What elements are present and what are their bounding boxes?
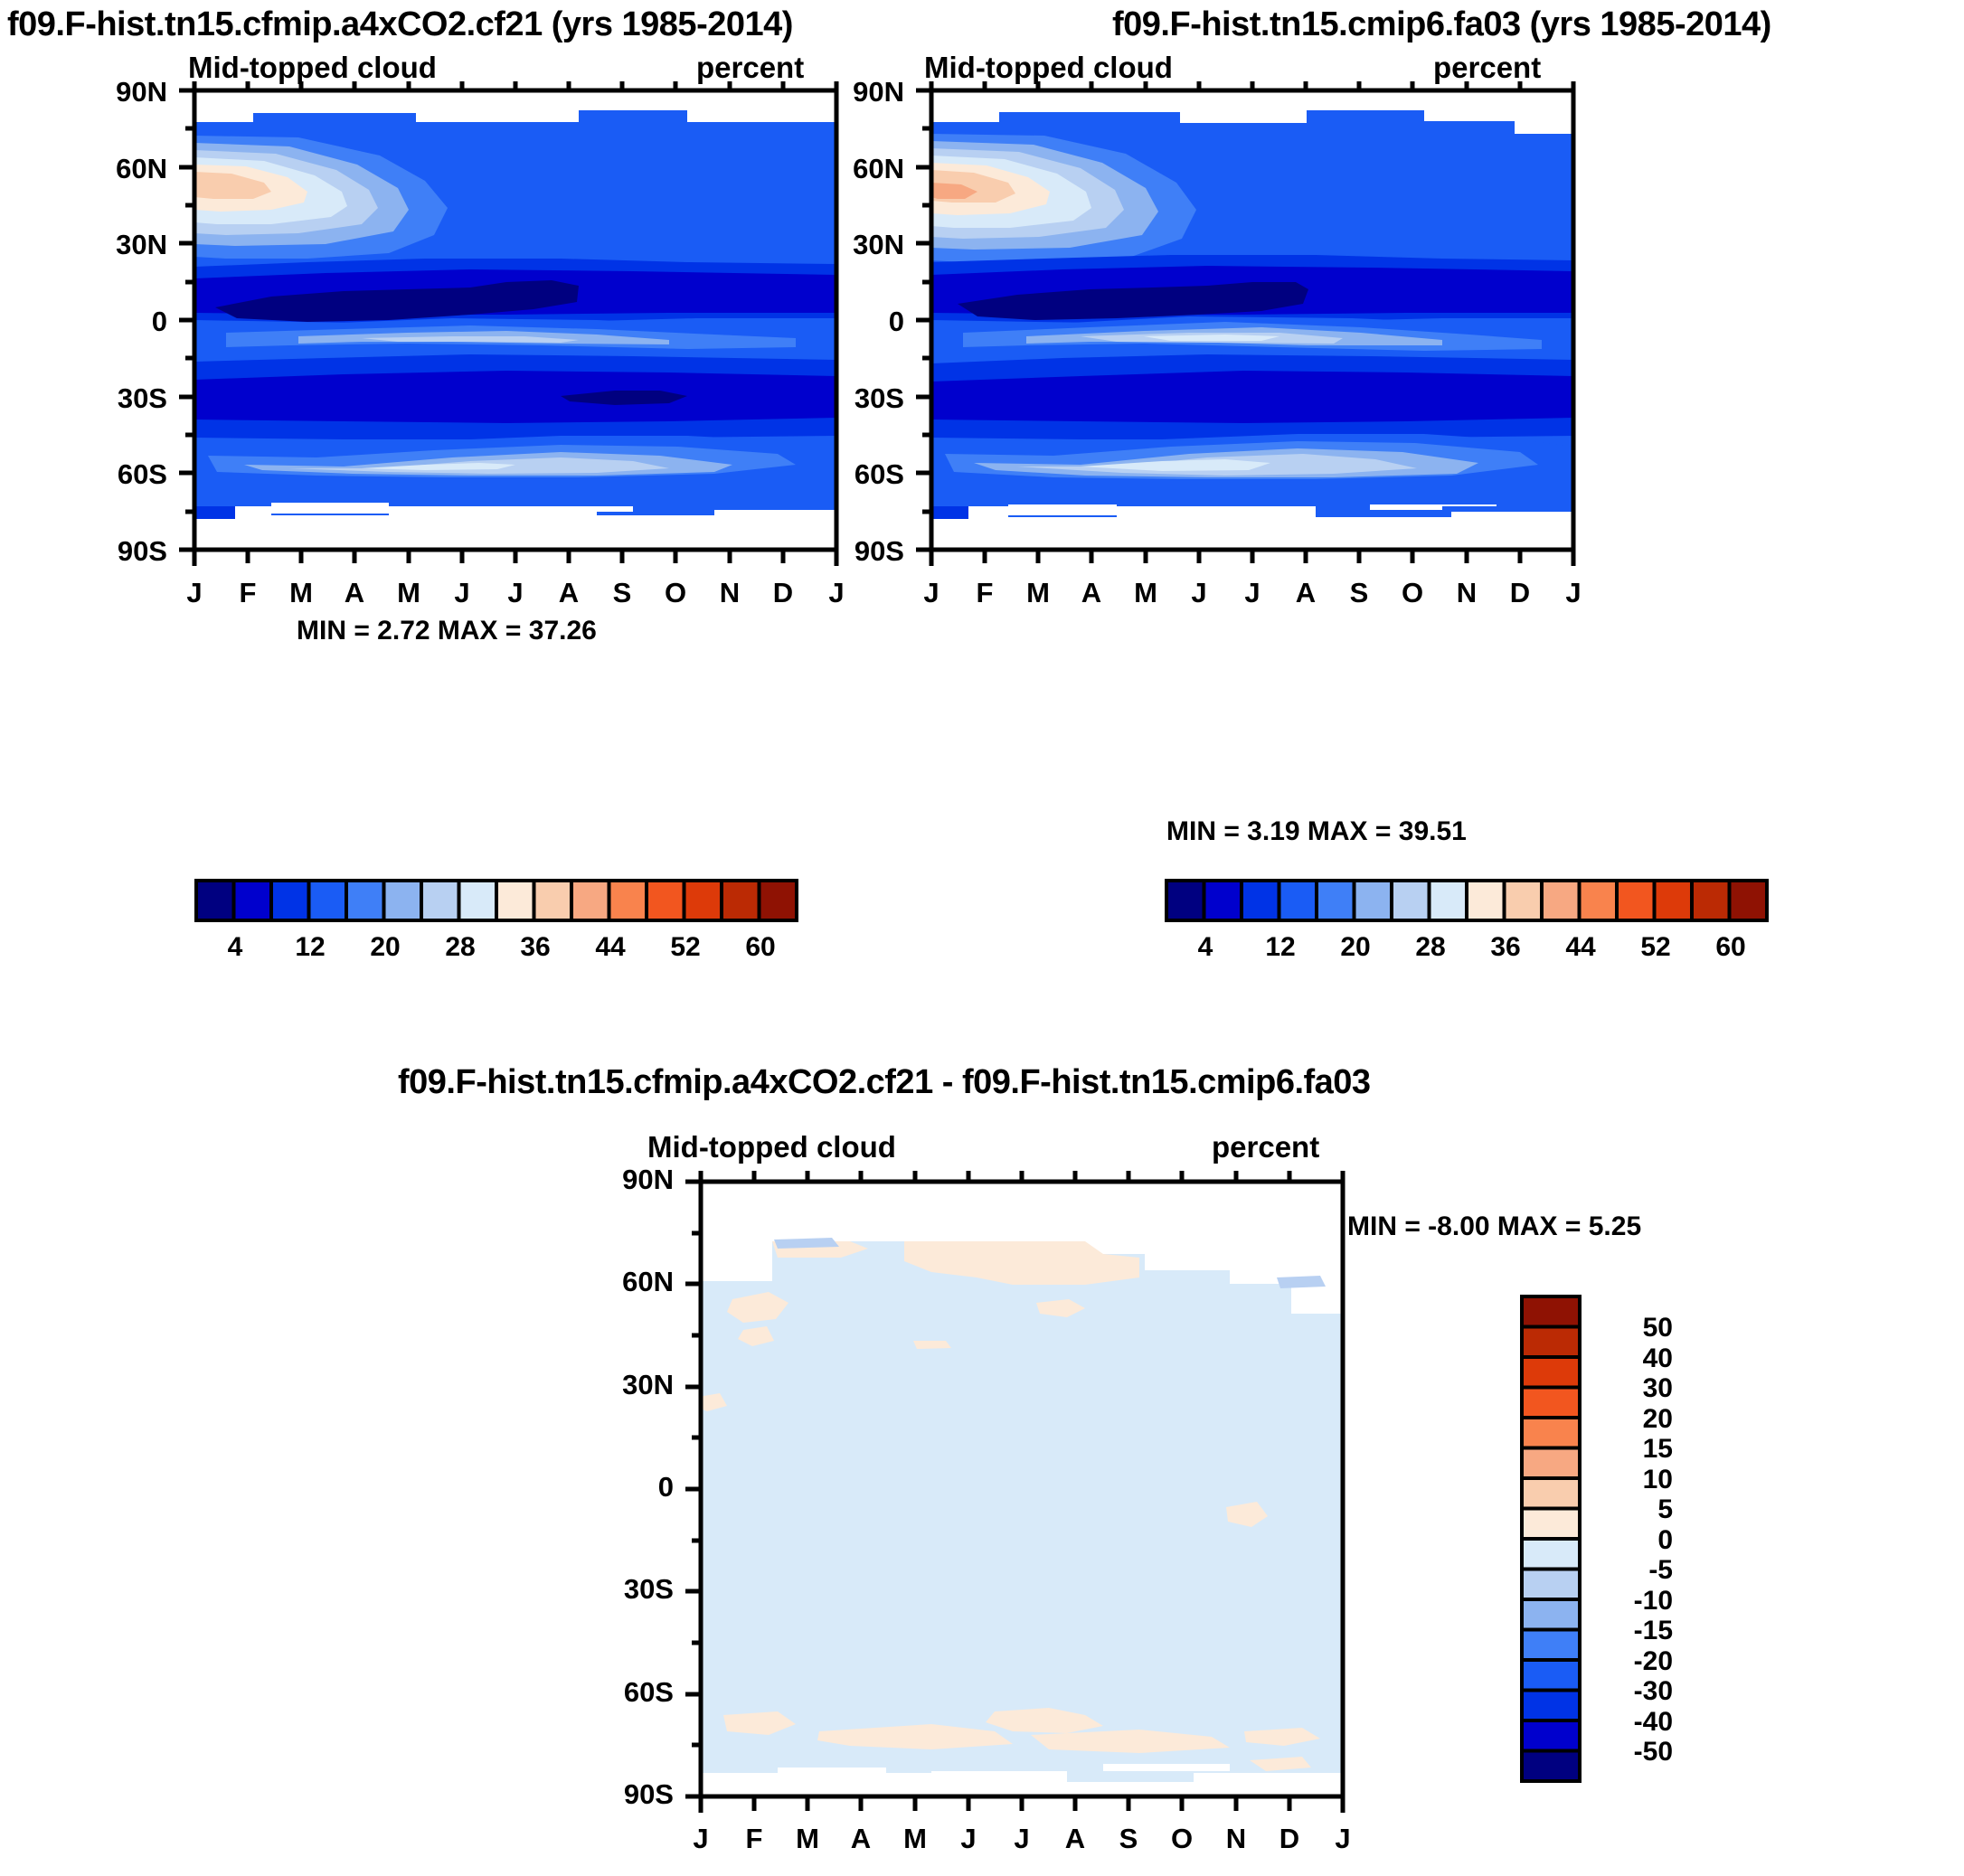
x-tick-label-tr-5: J — [1176, 577, 1222, 609]
colorbar-tick-df-11: -20 — [1600, 1646, 1673, 1677]
y-tick-label-60n-tr: 60N — [791, 153, 904, 185]
colorbar-tick-df-5: 10 — [1600, 1465, 1673, 1495]
colorbar-tick-tl-4: 36 — [513, 932, 558, 963]
y-tick-label-90s-df: 90S — [561, 1778, 674, 1811]
colorbar-tick-tl-0: 4 — [212, 932, 258, 963]
x-tick-label-tl-10: N — [707, 577, 752, 609]
colorbar-tick-tl-7: 60 — [738, 932, 783, 963]
x-tick-label-tr-7: A — [1283, 577, 1328, 609]
colorbar-tick-df-9: -10 — [1600, 1586, 1673, 1617]
colorbar-tick-tl-3: 28 — [438, 932, 483, 963]
y-tick-label-0-tl: 0 — [54, 306, 167, 338]
x-tick-label-tl-11: D — [760, 577, 806, 609]
colorbar-tick-tr-3: 28 — [1408, 932, 1453, 963]
y-tick-label-30n-df: 30N — [561, 1369, 674, 1401]
colorbar-tick-tl-2: 20 — [363, 932, 408, 963]
y-tick-label-90s-tr: 90S — [791, 535, 904, 568]
x-tick-label-tl-3: A — [332, 577, 377, 609]
colorbar-tick-df-13: -40 — [1600, 1707, 1673, 1738]
colorbar-segments-tr — [1166, 881, 1767, 920]
x-tick-label-tr-1: F — [962, 577, 1007, 609]
y-tick-label-60s-df: 60S — [561, 1676, 674, 1709]
colorbar-tick-df-10: -15 — [1600, 1616, 1673, 1646]
colorbar-tick-df-8: -5 — [1600, 1555, 1673, 1586]
minmax-top-right: MIN = 3.19 MAX = 39.51 — [1166, 816, 1467, 847]
colorbar-tick-df-1: 40 — [1600, 1343, 1673, 1374]
units-label-top-left: percent — [696, 51, 804, 85]
units-label-top-right: percent — [1433, 51, 1541, 85]
x-tick-label-tr-3: A — [1069, 577, 1114, 609]
panel-title-top-right: f09.F-hist.tn15.cmip6.fa03 (yrs 1985-201… — [1112, 5, 1771, 44]
colorbar-tick-tr-4: 36 — [1483, 932, 1528, 963]
colorbar-segments-df — [1522, 1296, 1580, 1781]
panel-title-top-left: f09.F-hist.tn15.cfmip.a4xCO2.cf21 (yrs 1… — [7, 5, 793, 44]
y-tick-label-0-df: 0 — [561, 1471, 674, 1504]
x-tick-label-tr-9: O — [1390, 577, 1435, 609]
colorbar-tick-tr-6: 52 — [1633, 932, 1678, 963]
colorbar-tick-df-7: 0 — [1600, 1525, 1673, 1556]
minmax-difference: MIN = -8.00 MAX = 5.25 — [1347, 1211, 1641, 1242]
y-ticks-top-right — [916, 90, 931, 550]
y-tick-label-30s-df: 30S — [561, 1573, 674, 1606]
x-tick-label-tr-6: J — [1230, 577, 1275, 609]
x-tick-label-df-11: D — [1267, 1823, 1312, 1855]
colorbar-tick-tr-5: 44 — [1558, 932, 1603, 963]
x-tick-label-tr-11: D — [1497, 577, 1543, 609]
colorbar-tick-df-12: -30 — [1600, 1676, 1673, 1707]
x-tick-label-tl-6: J — [493, 577, 538, 609]
y-tick-label-30n-tr: 30N — [791, 229, 904, 261]
x-tick-label-df-12: J — [1320, 1823, 1365, 1855]
y-tick-label-30n-tl: 30N — [54, 229, 167, 261]
contour-field-difference — [699, 1182, 1343, 1796]
x-tick-label-tl-4: M — [386, 577, 431, 609]
y-tick-label-90n-df: 90N — [561, 1164, 674, 1196]
colorbar-tick-tr-2: 20 — [1333, 932, 1378, 963]
x-tick-label-tl-9: O — [653, 577, 698, 609]
x-tick-label-tr-4: M — [1123, 577, 1168, 609]
y-ticks-difference — [685, 1182, 701, 1796]
colorbar-top-right[interactable] — [1165, 879, 1770, 926]
y-tick-label-60s-tr: 60S — [791, 458, 904, 491]
colorbar-tick-tr-1: 12 — [1258, 932, 1303, 963]
y-ticks-top-left — [179, 90, 194, 550]
minmax-top-left: MIN = 2.72 MAX = 37.26 — [297, 616, 597, 646]
colorbar-tick-df-4: 15 — [1600, 1434, 1673, 1465]
x-tick-label-tl-12: J — [814, 577, 859, 609]
colorbar-tick-tr-0: 4 — [1183, 932, 1228, 963]
x-tick-label-tr-12: J — [1551, 577, 1596, 609]
colorbar-tick-df-14: -50 — [1600, 1737, 1673, 1768]
y-tick-label-60n-tl: 60N — [54, 153, 167, 185]
x-tick-label-tl-8: S — [600, 577, 645, 609]
colorbar-tick-df-6: 5 — [1600, 1494, 1673, 1525]
variable-label-top-left: Mid-topped cloud — [188, 51, 437, 85]
y-tick-label-90n-tl: 90N — [54, 76, 167, 108]
x-tick-label-df-5: J — [946, 1823, 991, 1855]
contour-field-top-right — [931, 90, 1573, 550]
colorbar-tick-tl-6: 52 — [663, 932, 708, 963]
colorbar-difference[interactable] — [1519, 1295, 1591, 1783]
variable-label-top-right: Mid-topped cloud — [924, 51, 1173, 85]
variable-label-difference: Mid-topped cloud — [647, 1130, 896, 1164]
y-tick-label-0-tr: 0 — [791, 306, 904, 338]
x-tick-label-df-9: O — [1159, 1823, 1204, 1855]
x-tick-label-tr-0: J — [909, 577, 954, 609]
x-tick-label-df-1: F — [732, 1823, 777, 1855]
x-tick-label-tl-0: J — [172, 577, 217, 609]
x-tick-label-tl-5: J — [439, 577, 485, 609]
colorbar-tick-df-2: 30 — [1600, 1373, 1673, 1404]
x-tick-label-df-7: A — [1053, 1823, 1098, 1855]
colorbar-segments-tl — [196, 881, 797, 920]
x-tick-label-df-0: J — [678, 1823, 723, 1855]
x-tick-label-tl-2: M — [279, 577, 324, 609]
x-tick-label-df-3: A — [838, 1823, 883, 1855]
colorbar-tick-df-3: 20 — [1600, 1404, 1673, 1435]
y-tick-label-30s-tr: 30S — [791, 382, 904, 415]
x-tick-label-df-10: N — [1213, 1823, 1259, 1855]
panel-title-difference: f09.F-hist.tn15.cfmip.a4xCO2.cf21 - f09.… — [398, 1063, 1371, 1102]
x-tick-label-tl-7: A — [546, 577, 591, 609]
colorbar-tick-tl-5: 44 — [588, 932, 633, 963]
colorbar-tick-df-0: 50 — [1600, 1313, 1673, 1343]
x-tick-label-df-4: M — [892, 1823, 938, 1855]
y-tick-label-60n-df: 60N — [561, 1266, 674, 1298]
x-tick-label-tl-1: F — [225, 577, 270, 609]
x-tick-label-tr-2: M — [1015, 577, 1061, 609]
colorbar-tick-tr-7: 60 — [1708, 932, 1753, 963]
x-tick-label-tr-8: S — [1336, 577, 1382, 609]
y-tick-label-90n-tr: 90N — [791, 76, 904, 108]
x-tick-label-df-2: M — [785, 1823, 830, 1855]
units-label-difference: percent — [1212, 1130, 1319, 1164]
colorbar-top-left[interactable] — [194, 879, 800, 926]
y-tick-label-60s-tl: 60S — [54, 458, 167, 491]
colorbar-tick-tl-1: 12 — [288, 932, 333, 963]
x-tick-label-df-6: J — [999, 1823, 1044, 1855]
y-tick-label-90s-tl: 90S — [54, 535, 167, 568]
y-tick-label-30s-tl: 30S — [54, 382, 167, 415]
x-tick-label-tr-10: N — [1444, 577, 1489, 609]
x-tick-label-df-8: S — [1106, 1823, 1151, 1855]
